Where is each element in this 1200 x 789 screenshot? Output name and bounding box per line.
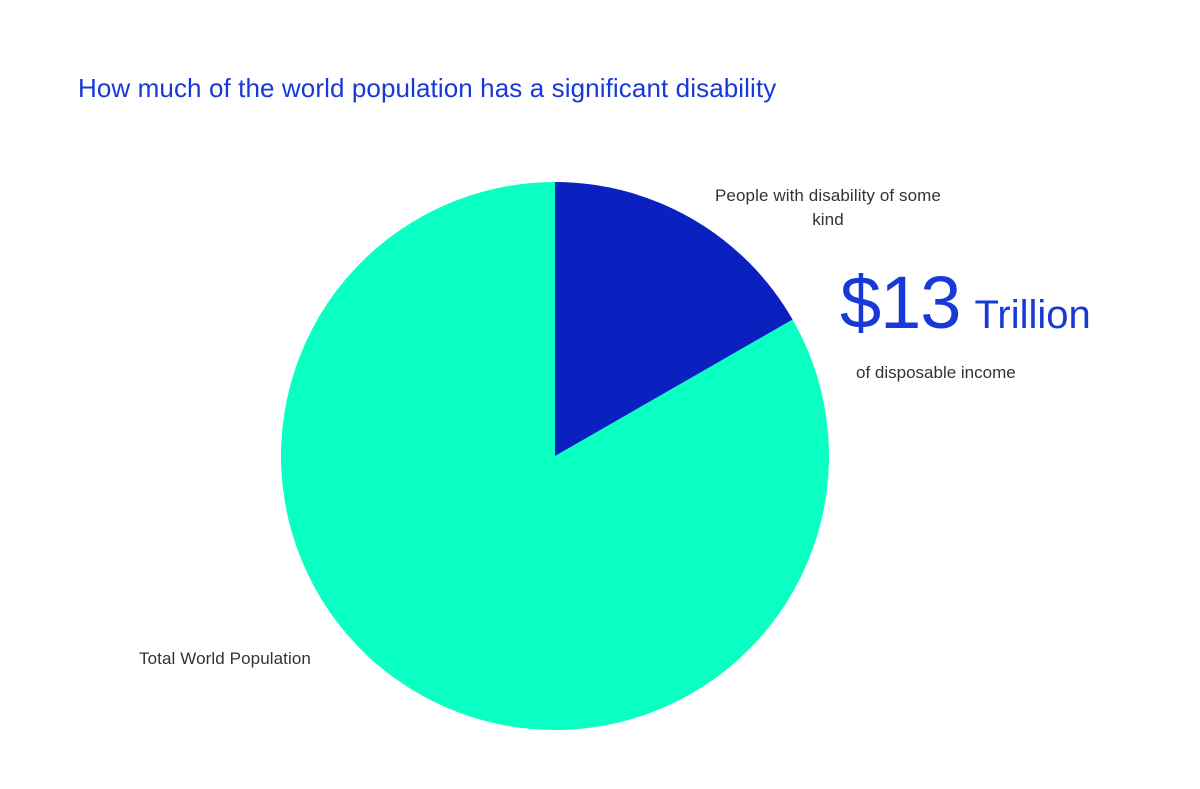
pie-chart-svg — [281, 182, 829, 730]
chart-canvas: How much of the world population has a s… — [0, 0, 1200, 789]
stat-unit: Trillion — [974, 295, 1090, 335]
pie-chart — [281, 182, 829, 730]
stat-headline: $13 Trillion — [840, 266, 1170, 340]
stat-callout: $13 Trillion of disposable income — [840, 266, 1170, 384]
pie-label-people-with-disability: People with disability of some kind — [700, 184, 956, 232]
stat-value: $13 — [840, 266, 960, 340]
stat-caption: of disposable income — [856, 362, 1170, 384]
pie-label-total-world-population: Total World Population — [139, 647, 339, 671]
page-title: How much of the world population has a s… — [78, 72, 776, 104]
